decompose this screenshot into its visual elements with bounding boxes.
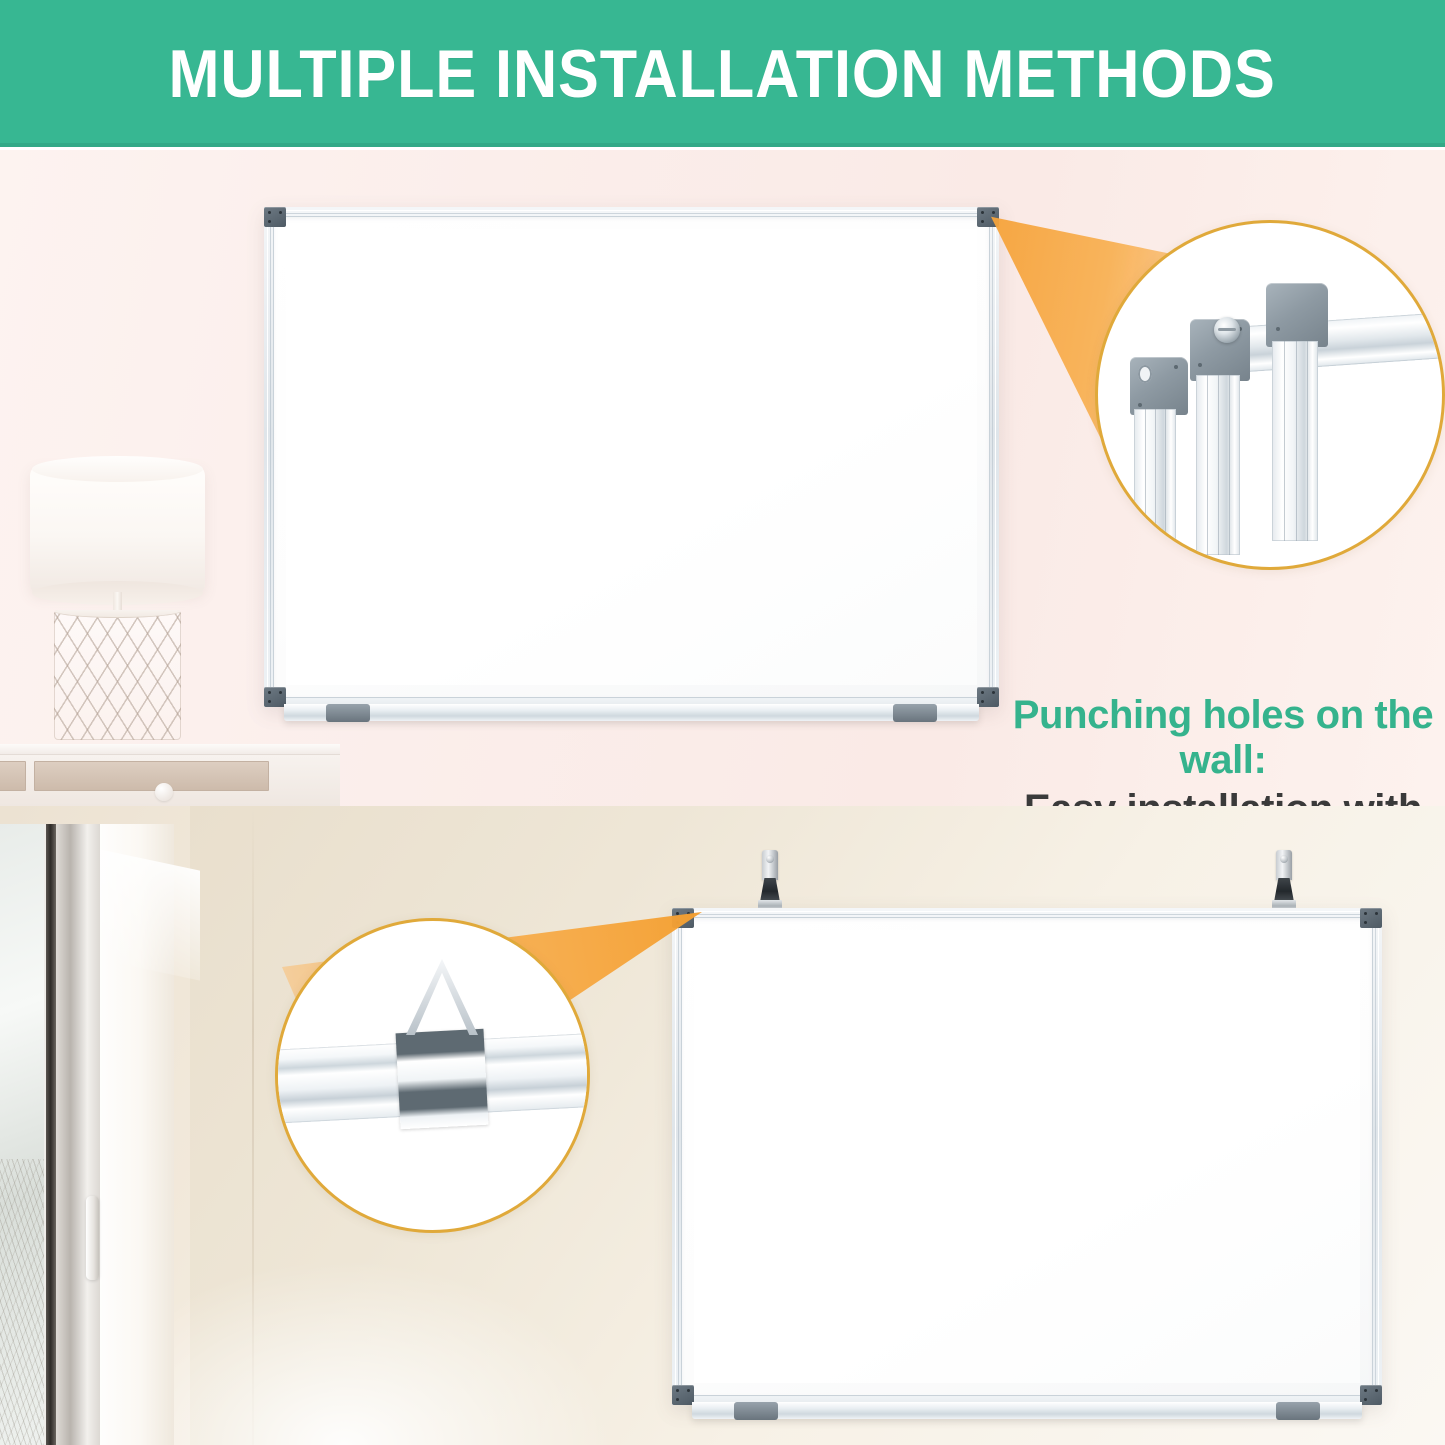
header-banner: MULTIPLE INSTALLATION METHODS bbox=[0, 0, 1445, 147]
frame-highlight-line bbox=[1375, 918, 1376, 1395]
frame-highlight-line bbox=[1378, 918, 1379, 1395]
frame-highlight-line bbox=[682, 914, 1372, 915]
frame-highlight-line bbox=[995, 217, 996, 697]
door-frame bbox=[0, 824, 100, 1445]
wall-hook-icon bbox=[1272, 850, 1296, 914]
hook-plate bbox=[762, 850, 778, 880]
pen-tray-clip bbox=[734, 1402, 778, 1420]
corner-bracket-icon bbox=[264, 687, 286, 707]
panel-no-punching: No punching: Hang it up with a hook bbox=[0, 806, 1445, 1445]
d-ring-triangle-icon bbox=[406, 959, 478, 1035]
frame-bar bbox=[1134, 409, 1176, 554]
pen-tray-clip bbox=[1276, 1402, 1320, 1420]
door-handle bbox=[86, 1196, 99, 1280]
page-title: MULTIPLE INSTALLATION METHODS bbox=[169, 35, 1276, 113]
hook-plate bbox=[1276, 850, 1292, 880]
frame-highlight-line bbox=[682, 911, 1372, 912]
console-drawer bbox=[0, 761, 26, 791]
frame-highlight-line bbox=[992, 217, 993, 697]
hook-lip bbox=[760, 878, 780, 902]
corner-bracket-icon bbox=[672, 1385, 694, 1405]
door-light-reflection bbox=[100, 849, 200, 980]
mounting-hole-icon bbox=[1138, 365, 1152, 383]
frame-highlight-line bbox=[270, 217, 271, 697]
hook-lip bbox=[1274, 878, 1294, 902]
pen-tray-clip bbox=[893, 704, 937, 722]
frame-highlight-line bbox=[678, 918, 679, 1395]
lamp-wire-base bbox=[54, 610, 181, 740]
whiteboard-bottom bbox=[672, 908, 1382, 1405]
pen-tray bbox=[284, 704, 979, 721]
whiteboard-writing-surface bbox=[286, 229, 977, 685]
magnifier-circle-d-ring-hanger bbox=[275, 918, 590, 1233]
console-top-surface bbox=[0, 744, 340, 755]
caption-body: Easy installation with fixing kits bbox=[1008, 787, 1438, 806]
frame-highlight-line bbox=[267, 217, 268, 697]
caption-highlight: Punching holes on the wall: bbox=[1008, 693, 1438, 783]
screw-icon bbox=[1214, 317, 1240, 343]
corner-bracket-piece-front bbox=[1130, 357, 1240, 547]
wall-hook-icon bbox=[758, 850, 782, 914]
table-lamp bbox=[30, 444, 205, 744]
whiteboard-writing-surface bbox=[694, 930, 1360, 1383]
magnifier-circle-corner-brackets bbox=[1095, 220, 1445, 570]
frame-highlight-line bbox=[675, 918, 676, 1395]
console-body bbox=[0, 755, 340, 806]
corner-bracket-icon bbox=[1360, 908, 1382, 928]
panel-punching-holes: Punching holes on the wall: Easy install… bbox=[0, 150, 1445, 806]
corner-bracket-icon bbox=[264, 207, 286, 227]
lamp-shade bbox=[30, 466, 205, 594]
pen-tray-clip bbox=[326, 704, 370, 722]
caption-punching-holes: Punching holes on the wall: Easy install… bbox=[1008, 693, 1438, 806]
whiteboard-frame bbox=[264, 207, 999, 707]
corner-bracket-icon bbox=[1360, 1385, 1382, 1405]
bracket-cap-icon bbox=[1130, 357, 1188, 415]
frame-highlight-line bbox=[274, 213, 989, 214]
hanger-band bbox=[396, 1029, 489, 1129]
sliding-glass-door bbox=[0, 824, 172, 1445]
console-table bbox=[0, 744, 340, 806]
whiteboard-inner-bezel bbox=[681, 917, 1373, 1396]
whiteboard-top bbox=[264, 207, 999, 707]
whiteboard-frame bbox=[672, 908, 1382, 1405]
console-drawer bbox=[34, 761, 269, 791]
door-glass-panel bbox=[0, 824, 44, 1445]
corner-bracket-icon bbox=[977, 687, 999, 707]
door-seal-strip bbox=[46, 824, 56, 1445]
drawer-knob bbox=[155, 783, 173, 801]
frame-highlight-line bbox=[274, 210, 989, 211]
whiteboard-inner-bezel bbox=[273, 216, 990, 698]
pen-tray bbox=[692, 1402, 1362, 1419]
